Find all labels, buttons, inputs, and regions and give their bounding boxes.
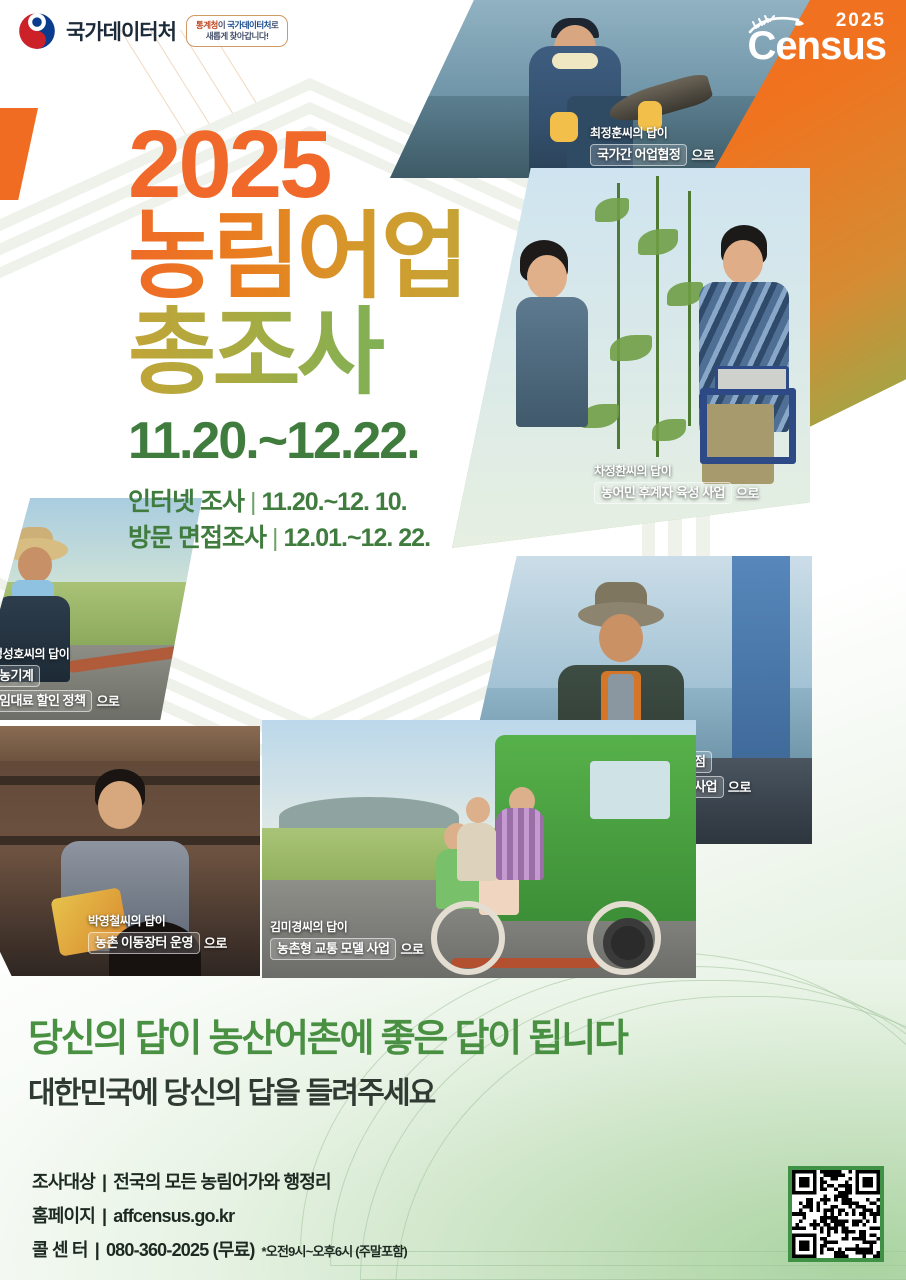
survey-method-separator: | [250,488,256,516]
rebrand-badge-line2: 새롭게 찾아갑니다! [196,31,278,42]
caption-fisherman-boat: 최정훈씨의 답이 국가간 어업협정 으로 [590,124,714,166]
survey-method-period: 12.01.~12. 22. [283,524,430,552]
photo-inner-shirt [608,674,634,728]
photo-bicycle-wheel-left [431,901,505,975]
footer-label: 조사대상 [32,1168,95,1194]
survey-methods-list: 인터넷 조사|11.20.~12. 10. 방문 면접조사|12.01.~12.… [128,485,465,556]
caption-suffix: 으로 [96,691,119,712]
caption-suffix: 으로 [736,483,759,504]
footer-label: 콜 센 터 [32,1236,88,1262]
survey-method-separator: | [272,524,278,552]
caption-person-name: 김미경씨의 답이 [270,918,423,935]
photo-greenhouse-cart-panel [715,366,789,392]
caption-keyword: 농기계 [0,665,40,687]
photo-market: 박영철씨의 답이 농촌 이동장터 운영 으로 [0,726,260,976]
footer-separator: | [95,1240,99,1261]
photo-farmer-head [18,547,52,583]
caption-person-name: 정성호씨의 답이 [0,645,119,662]
survey-method-label: 방문 면접조사 [128,524,266,552]
survey-method-row: 방문 면접조사|12.01.~12. 22. [128,521,465,557]
caption-keyword: 국가간 어업협정 [590,144,687,166]
slogan-primary: 당신의 답이 농산어촌에 좋은 답이 됩니다 [28,1018,627,1062]
photo-mother-body [457,823,497,881]
footer-label: 홈페이지 [32,1202,95,1228]
wheat-fish-mark-icon [746,14,808,36]
photo-bus-window [590,761,670,819]
qr-code[interactable] [788,1166,884,1262]
title-year: 2025 [128,120,465,209]
footer-info: 조사대상 | 전국의 모든 농림어가와 행정리 홈페이지 | affcensus… [32,1168,407,1270]
caption-person-name: 차정환씨의 답이 [594,462,759,479]
korea-taegeuk-mark-icon [18,12,56,50]
footer-hours-note: *오전9시~오후6시 (주말포함) [262,1241,407,1260]
photo-plant-stem [688,191,691,427]
survey-method-row: 인터넷 조사|11.20.~12. 10. [128,485,465,521]
photo-fisherman-head [599,614,643,662]
photo-truck-canopy [0,726,260,761]
photo-greenhouse-cart [700,388,796,464]
caption-keyword: 농촌형 교통 모델 사업 [270,938,396,960]
slogan-block: 당신의 답이 농산어촌에 좋은 답이 됩니다 대한민국에 당신의 답을 들려주세… [28,1018,627,1112]
photo-worker1-body [516,297,588,427]
title-line-2: 총조사 [128,305,465,401]
header-bar: 국가데이터처 통계청이 국가데이터처로 새롭게 찾아갑니다! [18,12,288,50]
photo-village-bus: 김미경씨의 답이 농촌형 교통 모델 사업 으로 [262,720,696,978]
title-date-range: 11.20.~12.22. [128,415,465,467]
survey-method-label: 인터넷 조사 [128,488,244,516]
caption-person-name: 박영철씨의 답이 [88,912,227,929]
caption-farmer-bike: 정성호씨의 답이 농기계 임대료 할인 정책 으로 [0,645,119,713]
photo-glove-left [550,112,578,142]
caption-suffix: 으로 [204,933,227,954]
photo-vendor-head [98,781,142,829]
survey-method-period: 11.20.~12. 10. [261,488,406,516]
footer-separator: | [102,1172,106,1193]
caption-keyword-2: 임대료 할인 정책 [0,690,92,712]
footer-value: 전국의 모든 농림어가와 행정리 [113,1168,330,1194]
rebrand-badge-line1: 통계청이 국가데이터처로 [196,20,278,31]
footer-row-callcenter[interactable]: 콜 센 터 | 080-360-2025 (무료) *오전9시~오후6시 (주말… [32,1236,407,1262]
slogan-secondary: 대한민국에 당신의 답을 들려주세요 [28,1068,627,1112]
photo-plant-stem [656,176,659,457]
poster-title-block: 2025 농림어업 총조사 11.20.~12.22. 인터넷 조사|11.20… [128,120,465,556]
poster-canvas: 국가데이터처 통계청이 국가데이터처로 새롭게 찾아갑니다! 2025 Cens… [0,0,906,1280]
rebrand-badge: 통계청이 국가데이터처로 새롭게 찾아갑니다! [186,15,288,46]
caption-greenhouse: 차정환씨의 답이 농어민 후계자 육성 사업 으로 [594,462,759,504]
caption-village-bus: 김미경씨의 답이 농촌형 교통 모델 사업 으로 [270,918,423,960]
footer-row-website[interactable]: 홈페이지 | affcensus.go.kr [32,1202,407,1228]
photo-fisherman-collar [552,53,598,69]
title-line-1: 농림어업 [128,209,465,305]
photo-grandmother-body [496,808,544,880]
qr-code-image[interactable] [792,1170,880,1258]
agency-name: 국가데이터처 [66,16,176,46]
caption-person-name: 최정훈씨의 답이 [590,124,714,141]
footer-separator: | [102,1206,106,1227]
footer-website-url[interactable]: affcensus.go.kr [113,1206,234,1227]
footer-row-target: 조사대상 | 전국의 모든 농림어가와 행정리 [32,1168,407,1194]
caption-suffix: 으로 [400,939,423,960]
caption-keyword: 농어민 후계자 육성 사업 [594,482,732,504]
caption-market: 박영철씨의 답이 농촌 이동장터 운영 으로 [88,912,227,954]
caption-suffix: 으로 [728,777,751,798]
caption-keyword: 농촌 이동장터 운영 [88,932,200,954]
footer-phone-number[interactable]: 080-360-2025 (무료) [106,1236,255,1262]
census-logo: 2025 Census [748,10,887,66]
caption-suffix: 으로 [691,145,714,166]
